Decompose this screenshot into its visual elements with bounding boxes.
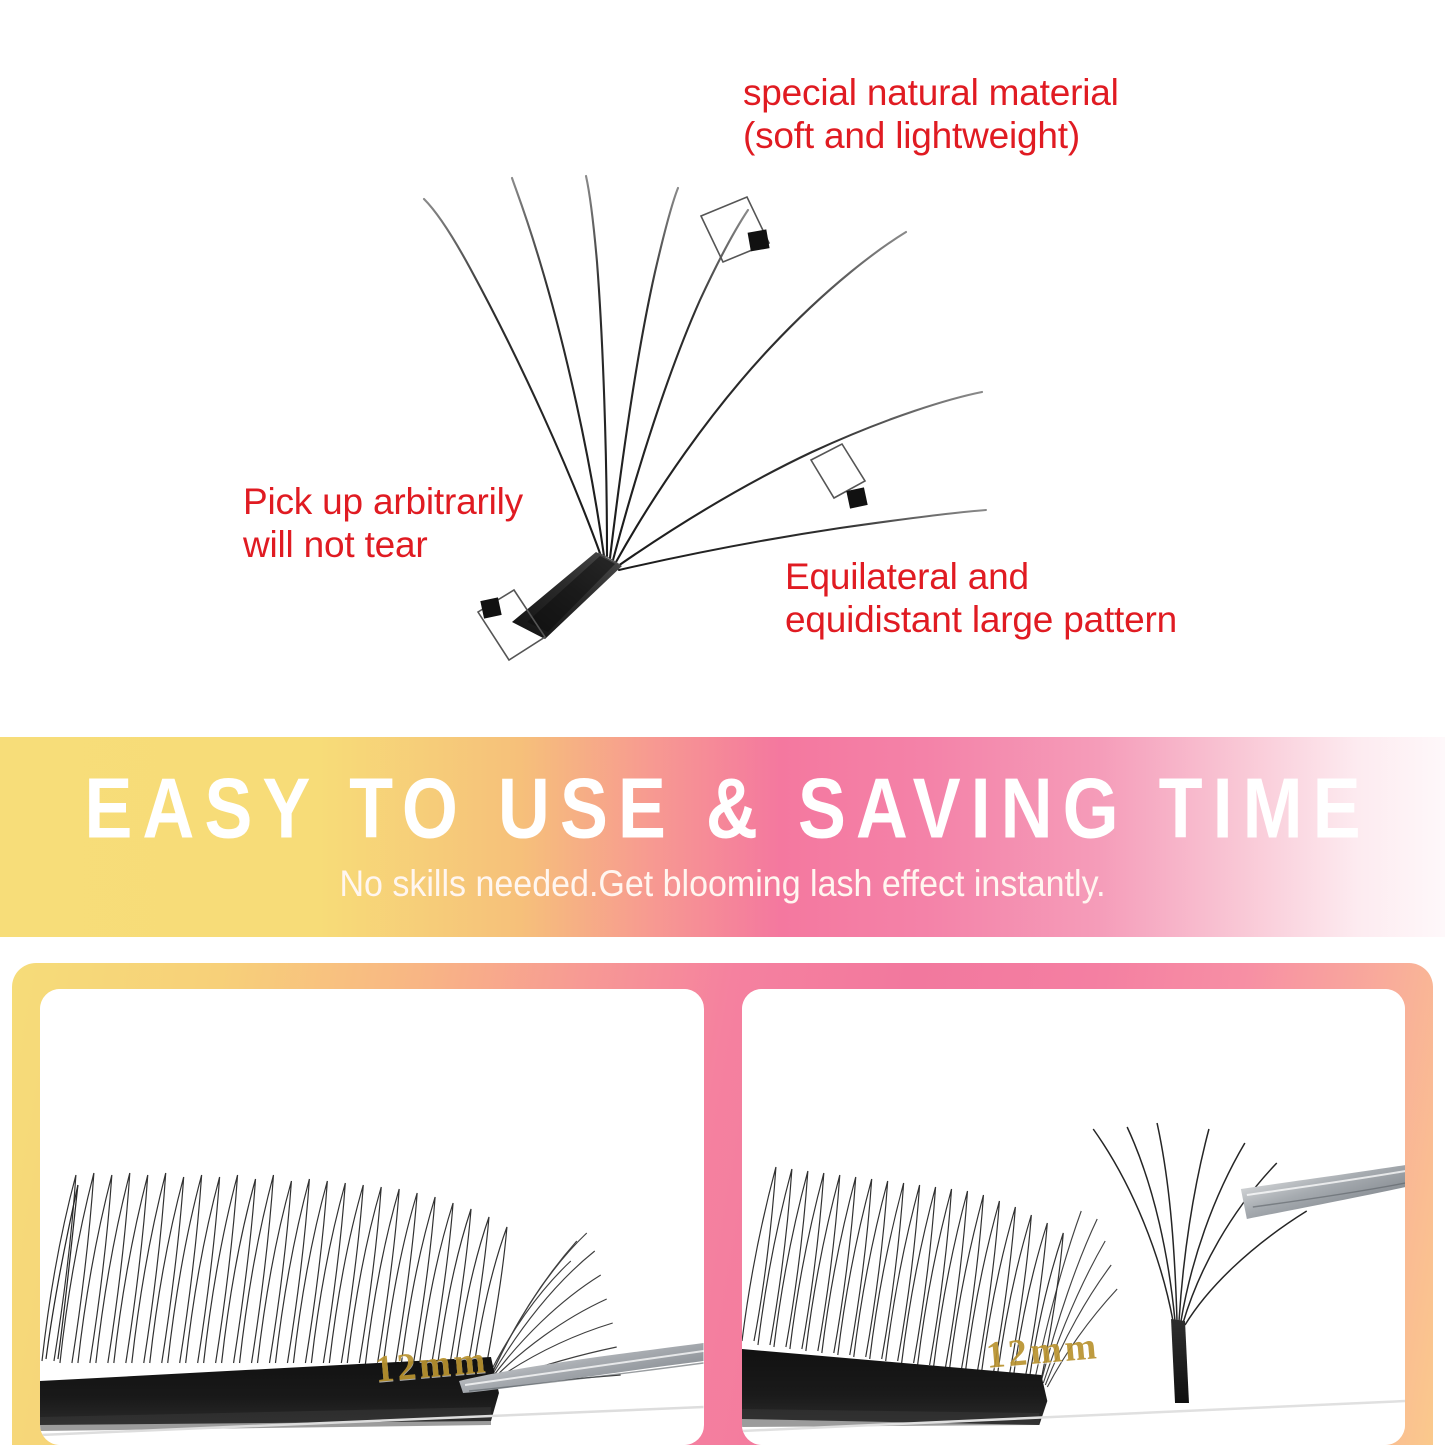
lash-fan-illustration <box>0 0 1445 737</box>
lash-tray-with-tweezer-photo <box>40 989 704 1445</box>
callout-equilateral-equidistant: Equilateral and equidistant large patter… <box>785 556 1177 642</box>
rotated-square-marker-icon <box>811 444 868 509</box>
photo-gallery-frame: 12mm <box>12 963 1433 1445</box>
headline-banner: EASY TO USE & SAVING TIME No skills need… <box>0 737 1445 937</box>
photo-card-lash-tray[interactable]: 12mm <box>40 989 704 1445</box>
callout-pick-up-arbitrarily: Pick up arbitrarily will not tear <box>243 481 523 567</box>
callout-special-natural-material: special natural material (soft and light… <box>743 72 1119 158</box>
banner-title: EASY TO USE & SAVING TIME <box>0 767 1445 852</box>
lash-fan-base <box>512 552 622 639</box>
banner-subtitle: No skills needed.Get blooming lash effec… <box>0 865 1445 902</box>
photo-card-lash-fan-pickup[interactable]: 12mm <box>742 989 1406 1445</box>
lash-fan-lifted-by-tweezer-photo <box>742 989 1406 1445</box>
diagram-section: special natural material (soft and light… <box>0 0 1445 737</box>
